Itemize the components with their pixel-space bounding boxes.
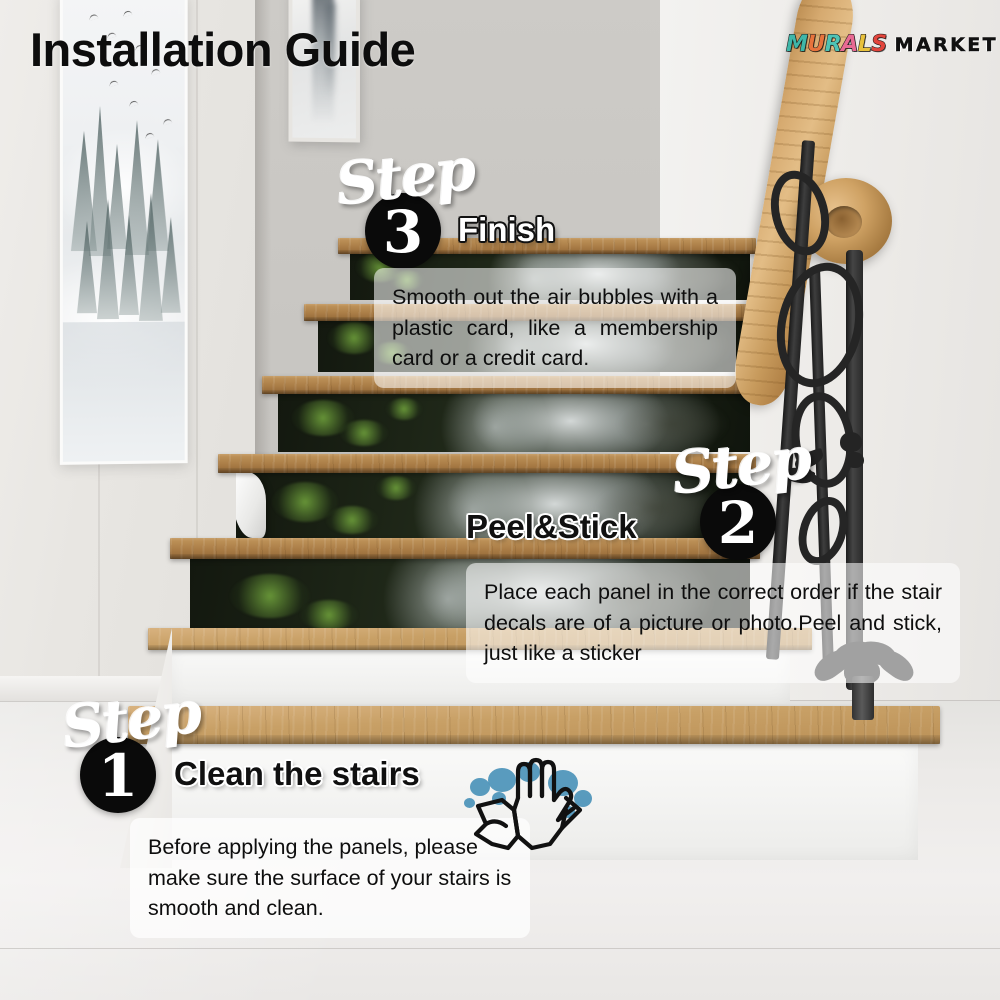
logo-letter: U [807,32,824,57]
step-2-heading: Peel&Stick [466,508,637,546]
logo-letter: A [841,32,858,57]
logo-letter: S [871,32,886,57]
step-2-number: 2 [718,494,758,552]
step-2-body: Place each panel in the correct order if… [466,563,960,683]
iron-bud-ornament [840,432,862,452]
logo-letter: R [825,32,841,57]
brand-logo[interactable]: M U R A L S MARKET [786,32,998,57]
step-3-heading: Finish [458,211,555,249]
peeling-decal-corner [236,472,266,538]
step-1-heading: Clean the stairs [174,755,420,793]
logo-letter: M [786,32,807,57]
handrail-volute-eye [826,206,862,238]
iron-base-post [852,676,874,720]
brand-logo-murals: M U R A L S [786,32,887,57]
hand-wiping-cloth-icon [462,748,594,860]
step-3-body: Smooth out the air bubbles with a plasti… [374,268,736,388]
installation-guide-infographic: Installation Guide M U R A L S MARKET St… [0,0,1000,1000]
logo-letter: L [858,32,872,57]
page-title: Installation Guide [30,22,415,77]
brand-logo-market: MARKET [895,34,998,56]
iron-bud-ornament [846,452,864,468]
stair-tread [170,538,760,559]
bottom-step-tread [128,706,940,744]
